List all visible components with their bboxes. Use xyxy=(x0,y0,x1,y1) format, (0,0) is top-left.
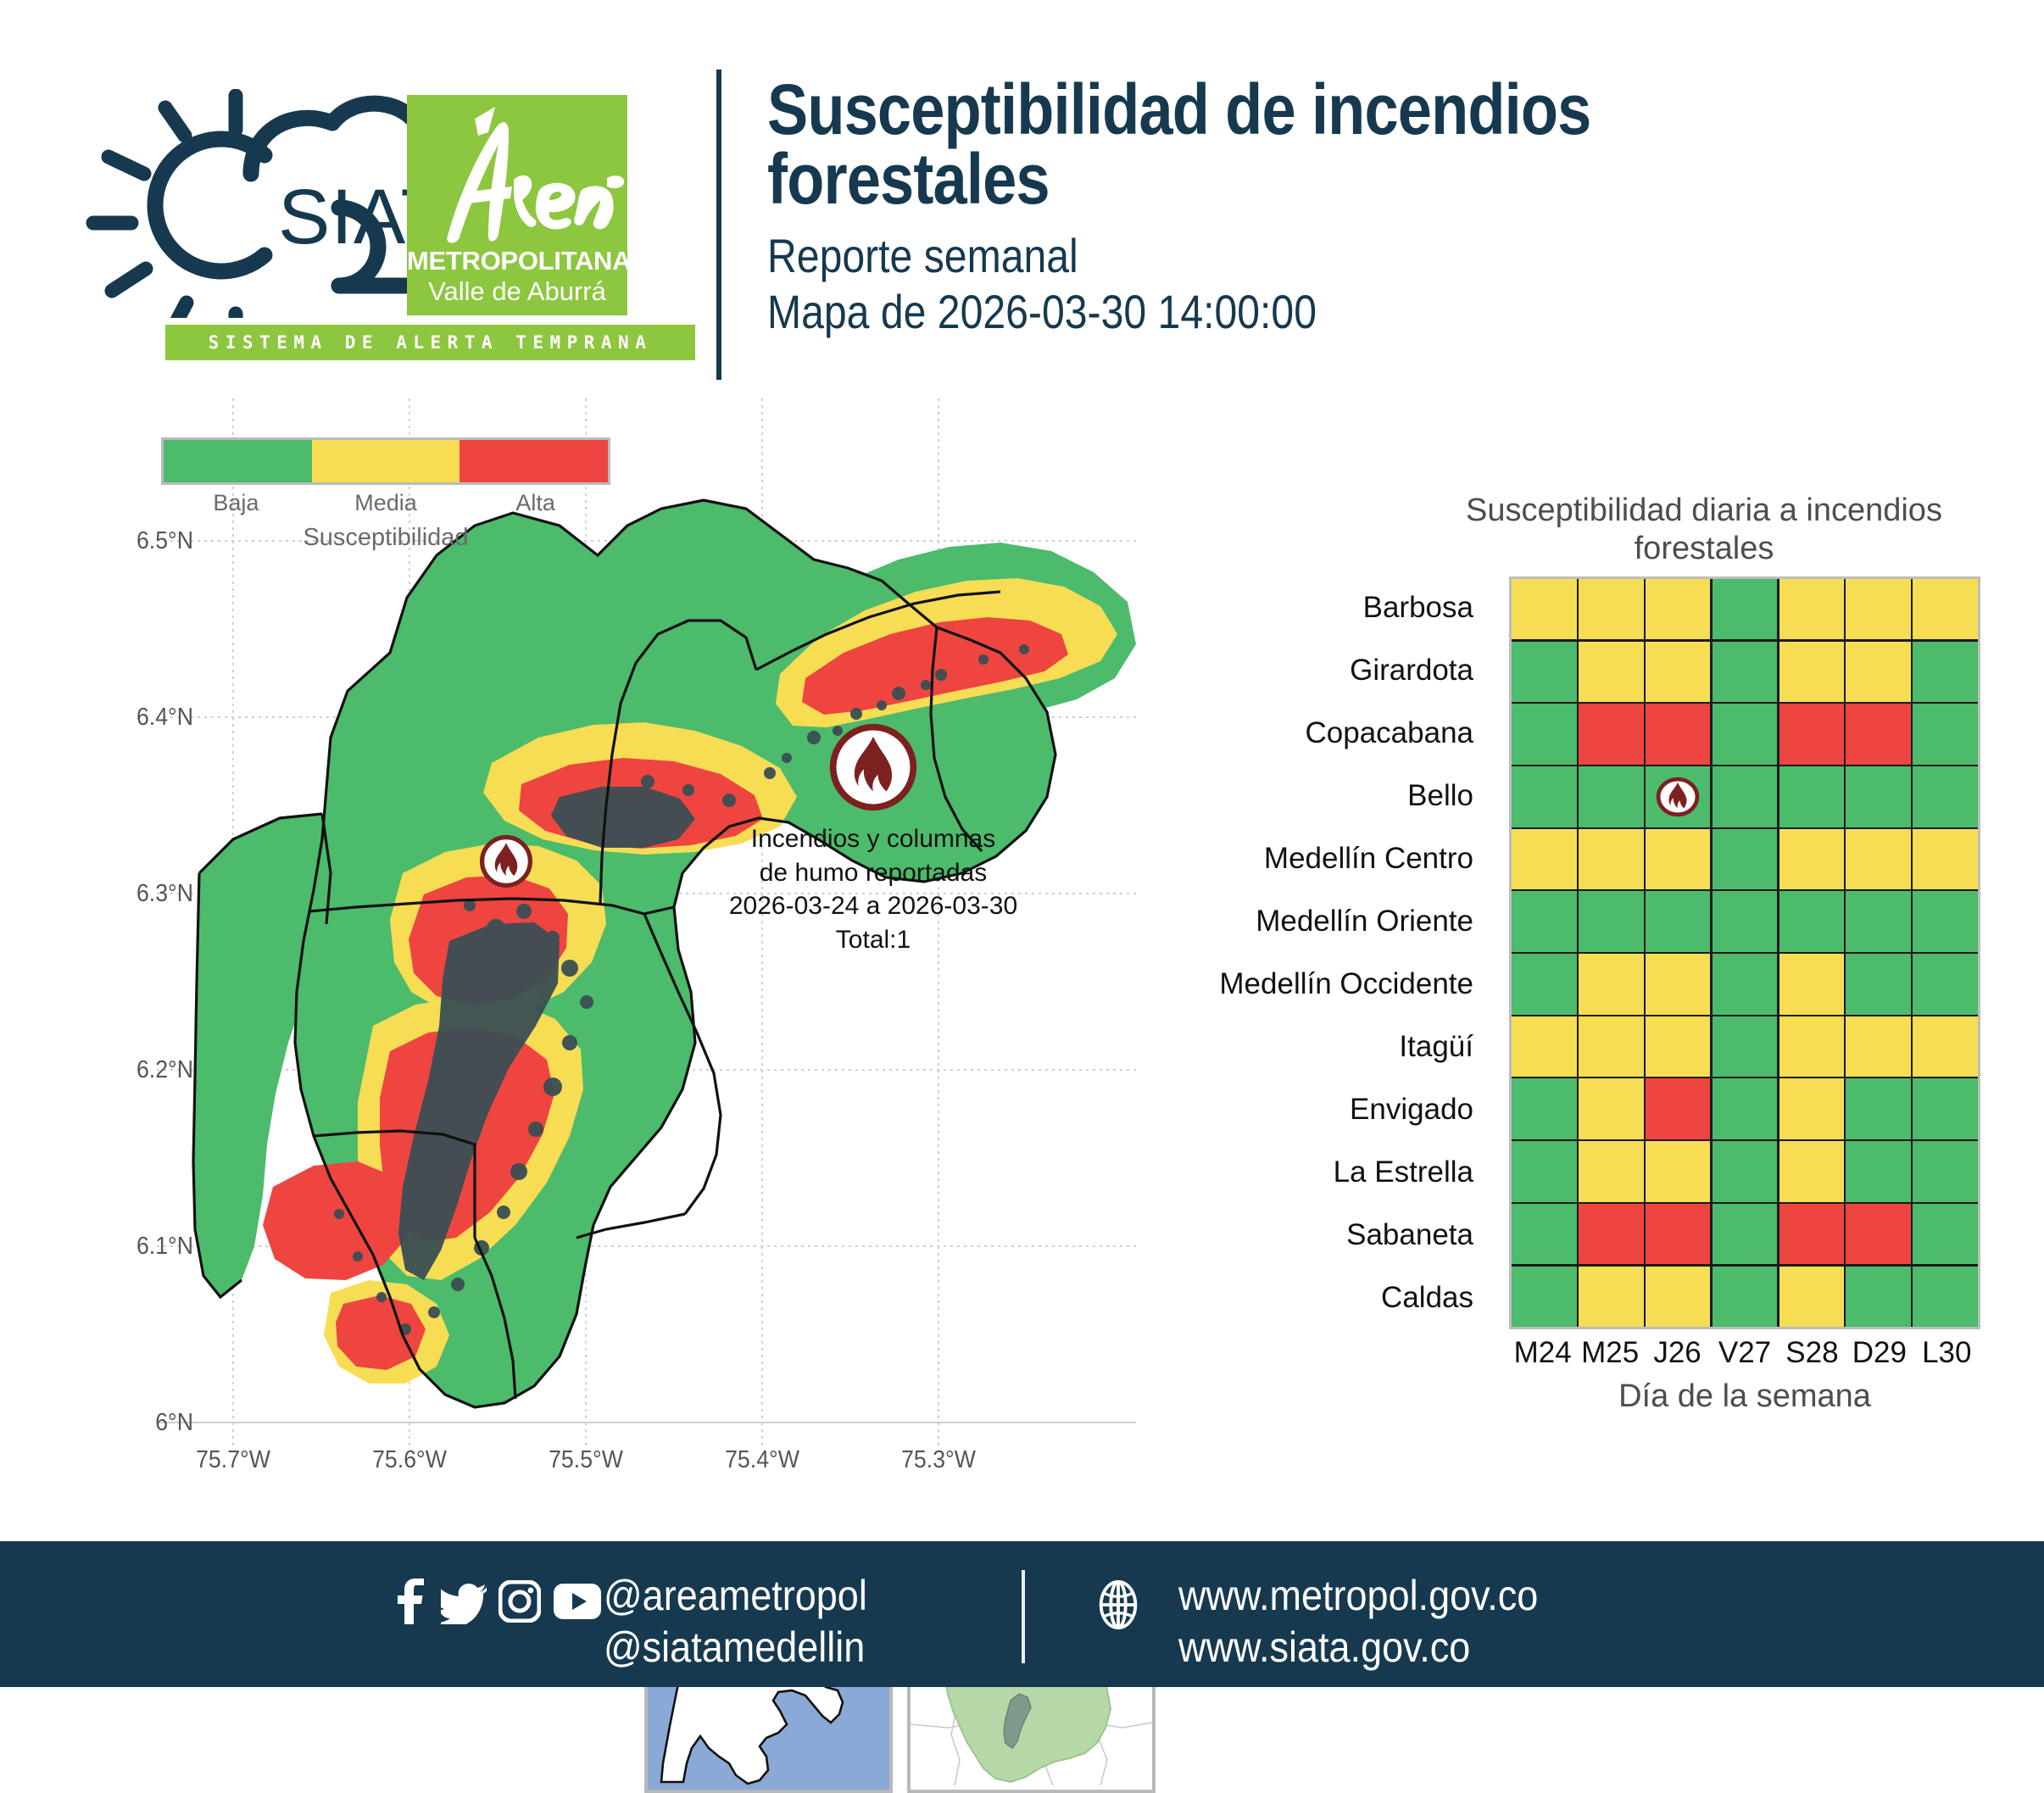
page-subtitle-2: Mapa de 2026-03-30 14:00:00 xyxy=(767,284,1832,340)
heatmap-cell[interactable] xyxy=(1779,766,1845,827)
heatmap-cell[interactable] xyxy=(1846,829,1911,890)
heatmap-cell[interactable] xyxy=(1913,1267,1978,1327)
area-logo-line2: Valle de Aburrá xyxy=(407,276,627,307)
heatmap-column-labels: M24M25J26V27S28D29L30 xyxy=(1509,1336,1980,1375)
title-block: Susceptibilidad de incendios forestales … xyxy=(767,75,2005,340)
heatmap-cell[interactable] xyxy=(1512,891,1577,951)
heatmap-cell[interactable] xyxy=(1913,579,1978,639)
heatmap-cell[interactable] xyxy=(1646,954,1711,1015)
legend-swatch-media xyxy=(312,440,460,482)
heatmap-cell[interactable] xyxy=(1512,829,1577,890)
map-fire-marker-icon[interactable] xyxy=(478,833,534,889)
heatmap-cell[interactable] xyxy=(1512,1141,1577,1202)
social-icon-group xyxy=(392,1579,602,1624)
heatmap-row-label: Medellín Centro xyxy=(1136,827,1492,890)
heatmap-column-label: M24 xyxy=(1509,1336,1576,1375)
heatmap-cell[interactable] xyxy=(1512,1016,1577,1077)
map-ytick-4: 6.1°N xyxy=(69,1233,193,1261)
heatmap-cell[interactable] xyxy=(1779,642,1845,703)
map-xtick-0: 75.7°W xyxy=(163,1446,304,1474)
page-footer: @areametropol @siatamedellin www.metropo… xyxy=(0,1541,2044,1687)
social-handles: @areametropol @siatamedellin xyxy=(604,1570,867,1673)
fire-caption-line-1: Incendios y columnas xyxy=(674,822,1072,856)
heatmap-cell[interactable] xyxy=(1846,1078,1911,1139)
heatmap-cell[interactable] xyxy=(1579,891,1644,951)
heatmap-cell[interactable] xyxy=(1913,1016,1978,1077)
heatmap-cell[interactable] xyxy=(1779,1141,1845,1202)
daily-susceptibility-panel: Susceptibilidad diaria a incendios fores… xyxy=(1136,492,2009,1492)
heatmap-cell[interactable] xyxy=(1579,1141,1644,1202)
heatmap-row-labels: BarbosaGirardotaCopacabanaBelloMedellín … xyxy=(1136,576,1492,1329)
heatmap-cell[interactable] xyxy=(1713,1141,1778,1202)
twitter-icon[interactable] xyxy=(441,1579,487,1624)
instagram-icon[interactable] xyxy=(498,1580,541,1623)
heatmap-cell[interactable] xyxy=(1713,954,1778,1015)
heatmap-cell[interactable] xyxy=(1913,642,1978,703)
page-title: Susceptibilidad de incendios forestales xyxy=(767,75,1832,214)
map-xtick-4: 75.3°W xyxy=(868,1446,1009,1474)
area-metropolitana-logo: METROPOLITANA Valle de Aburrá xyxy=(407,95,627,315)
footer-divider xyxy=(1022,1570,1025,1663)
legend-label-baja: Baja xyxy=(161,490,311,519)
map-ytick-2: 6.3°N xyxy=(69,880,193,908)
heatmap-cell[interactable] xyxy=(1779,579,1845,639)
heatmap-cell[interactable] xyxy=(1512,704,1577,764)
heatmap-x-axis-label: Día de la semana xyxy=(1509,1378,1980,1415)
fire-icon[interactable] xyxy=(1656,775,1700,819)
heatmap-cell[interactable] xyxy=(1846,1204,1911,1265)
heatmap-cell[interactable] xyxy=(1512,1267,1577,1327)
heatmap-column-label: J26 xyxy=(1644,1336,1711,1375)
heatmap-cell[interactable] xyxy=(1779,704,1845,764)
heatmap-row-label: Copacabana xyxy=(1136,702,1492,765)
heatmap-cell[interactable] xyxy=(1713,1204,1778,1265)
heatmap-cell[interactable] xyxy=(1579,1267,1644,1327)
heatmap-cell[interactable] xyxy=(1779,1078,1845,1139)
heatmap-title: Susceptibilidad diaria a incendios fores… xyxy=(1416,492,1992,568)
heatmap-grid[interactable] xyxy=(1509,576,1980,1329)
heatmap-cell[interactable] xyxy=(1646,766,1711,827)
heatmap-cell[interactable] xyxy=(1646,579,1711,639)
heatmap-cell[interactable] xyxy=(1779,1204,1845,1265)
globe-icon xyxy=(1094,1580,1143,1629)
heatmap-cell[interactable] xyxy=(1913,1078,1978,1139)
facebook-icon[interactable] xyxy=(392,1579,429,1624)
legend-swatch-baja xyxy=(164,440,312,482)
map-ytick-3: 6.2°N xyxy=(69,1056,193,1084)
heatmap-row-label: La Estrella xyxy=(1136,1141,1492,1204)
map-ytick-1: 6.4°N xyxy=(69,704,193,732)
heatmap-cell[interactable] xyxy=(1713,1078,1778,1139)
header-divider xyxy=(716,70,721,380)
heatmap-cell[interactable] xyxy=(1913,891,1978,951)
heatmap-row-label: Medellín Oriente xyxy=(1136,890,1492,953)
fire-caption-line-3: 2026-03-24 a 2026-03-30 xyxy=(674,889,1072,923)
heatmap-row-label: Itagüí xyxy=(1136,1016,1492,1078)
heatmap-cell[interactable] xyxy=(1646,642,1711,703)
fire-icon xyxy=(827,721,920,814)
map-xtick-1: 75.6°W xyxy=(339,1446,480,1474)
heatmap-cell[interactable] xyxy=(1646,1016,1711,1077)
heatmap-cell[interactable] xyxy=(1579,579,1644,639)
heatmap-cell[interactable] xyxy=(1713,1267,1778,1327)
map-ytick-5: 6°N xyxy=(69,1409,193,1437)
heatmap-row-label: Girardota xyxy=(1136,639,1492,702)
heatmap-cell[interactable] xyxy=(1646,829,1711,890)
fire-caption-line-2: de humo reportadas xyxy=(674,856,1072,890)
fire-caption-line-4: Total:1 xyxy=(674,923,1072,957)
area-script-icon xyxy=(414,98,626,247)
heatmap-cell[interactable] xyxy=(1846,704,1911,764)
susceptibility-legend-labels: Baja Media Alta xyxy=(161,490,610,519)
legend-swatch-alta xyxy=(459,440,608,482)
heatmap-cell[interactable] xyxy=(1512,1204,1577,1265)
url-siata[interactable]: www.siata.gov.co xyxy=(1178,1622,1538,1673)
legend-label-alta: Alta xyxy=(460,490,610,519)
area-logo-line1: METROPOLITANA xyxy=(407,246,627,276)
heatmap-cell[interactable] xyxy=(1512,1078,1577,1139)
heatmap-cell[interactable] xyxy=(1713,829,1778,890)
map-panel: 6.5°N 6.4°N 6.3°N 6.2°N 6.1°N 6°N 75.7°W… xyxy=(51,398,1136,1526)
heatmap-cell[interactable] xyxy=(1846,891,1911,951)
heatmap-cell[interactable] xyxy=(1579,1078,1644,1139)
heatmap-cell[interactable] xyxy=(1713,766,1778,827)
legend-caption: Susceptibilidad xyxy=(161,524,610,552)
heatmap-cell[interactable] xyxy=(1713,891,1778,951)
heatmap-cell[interactable] xyxy=(1846,579,1911,639)
handle-areametropol[interactable]: @areametropol xyxy=(604,1570,867,1622)
youtube-icon[interactable] xyxy=(553,1583,602,1620)
heatmap-cell[interactable] xyxy=(1579,954,1644,1015)
map-xtick-3: 75.4°W xyxy=(692,1446,833,1474)
heatmap-cell[interactable] xyxy=(1512,579,1577,639)
handle-siatamedellin[interactable]: @siatamedellin xyxy=(604,1622,867,1673)
heatmap-column-label: D29 xyxy=(1846,1336,1913,1375)
heatmap-cell[interactable] xyxy=(1779,1267,1845,1327)
website-urls: www.metropol.gov.co www.siata.gov.co xyxy=(1178,1570,1538,1673)
heatmap-row-label: Caldas xyxy=(1136,1267,1492,1329)
heatmap-cell[interactable] xyxy=(1779,891,1845,951)
heatmap-cell[interactable] xyxy=(1913,1141,1978,1202)
siata-tagline: SISTEMA DE ALERTA TEMPRANA xyxy=(165,325,695,360)
heatmap-cell[interactable] xyxy=(1713,642,1778,703)
heatmap-cell[interactable] xyxy=(1579,704,1644,764)
heatmap-cell[interactable] xyxy=(1846,1267,1911,1327)
heatmap-cell[interactable] xyxy=(1579,766,1644,827)
heatmap-column-label: L30 xyxy=(1913,1336,1980,1375)
heatmap-cell[interactable] xyxy=(1846,1016,1911,1077)
heatmap-cell[interactable] xyxy=(1846,954,1911,1015)
heatmap-cell[interactable] xyxy=(1646,1204,1711,1265)
heatmap-row-label: Barbosa xyxy=(1136,576,1492,639)
heatmap-cell[interactable] xyxy=(1512,954,1577,1015)
map-xtick-2: 75.5°W xyxy=(515,1446,656,1474)
heatmap-cell[interactable] xyxy=(1646,1267,1711,1327)
heatmap-column-label: M25 xyxy=(1576,1336,1643,1375)
heatmap-cell[interactable] xyxy=(1646,1141,1711,1202)
heatmap-cell[interactable] xyxy=(1846,642,1911,703)
report-page: SIATA SISTEMA DE ALERTA TEMPRANA METROPO… xyxy=(0,0,2044,1687)
heatmap-row-label: Sabaneta xyxy=(1136,1204,1492,1267)
heatmap-cell[interactable] xyxy=(1579,829,1644,890)
heatmap-row-label: Medellín Occidente xyxy=(1136,953,1492,1016)
heatmap-cell[interactable] xyxy=(1913,704,1978,764)
susceptibility-map[interactable] xyxy=(51,398,1136,1526)
heatmap-cell[interactable] xyxy=(1779,829,1845,890)
page-header: SIATA SISTEMA DE ALERTA TEMPRANA METROPO… xyxy=(0,0,2044,390)
heatmap-cell[interactable] xyxy=(1713,579,1778,639)
heatmap-cell[interactable] xyxy=(1913,829,1978,890)
page-subtitle-1: Reporte semanal xyxy=(767,228,1832,284)
heatmap-cell[interactable] xyxy=(1579,1016,1644,1077)
legend-label-media: Media xyxy=(311,490,461,519)
heatmap-cell[interactable] xyxy=(1512,642,1577,703)
heatmap-cell[interactable] xyxy=(1512,766,1577,827)
heatmap-cell[interactable] xyxy=(1713,1016,1778,1077)
heatmap-cell[interactable] xyxy=(1779,1016,1845,1077)
heatmap-column-label: V27 xyxy=(1711,1336,1778,1375)
heatmap-cell[interactable] xyxy=(1846,1141,1911,1202)
heatmap-row-label: Bello xyxy=(1136,765,1492,827)
heatmap-cell[interactable] xyxy=(1913,1204,1978,1265)
heatmap-cell[interactable] xyxy=(1913,954,1978,1015)
heatmap-cell[interactable] xyxy=(1646,704,1711,764)
heatmap-cell[interactable] xyxy=(1646,891,1711,951)
heatmap-cell[interactable] xyxy=(1779,954,1845,1015)
heatmap-cell[interactable] xyxy=(1713,704,1778,764)
heatmap-cell[interactable] xyxy=(1579,1204,1644,1265)
fire-report-caption: Incendios y columnas de humo reportadas … xyxy=(674,822,1072,956)
susceptibility-legend-bar xyxy=(161,437,610,485)
heatmap-cell[interactable] xyxy=(1579,642,1644,703)
heatmap-cell[interactable] xyxy=(1646,1078,1711,1139)
heatmap-cell[interactable] xyxy=(1846,766,1911,827)
heatmap-row-label: Envigado xyxy=(1136,1078,1492,1141)
url-metropol[interactable]: www.metropol.gov.co xyxy=(1178,1570,1538,1622)
heatmap-cell[interactable] xyxy=(1913,766,1978,827)
heatmap-column-label: S28 xyxy=(1779,1336,1846,1375)
